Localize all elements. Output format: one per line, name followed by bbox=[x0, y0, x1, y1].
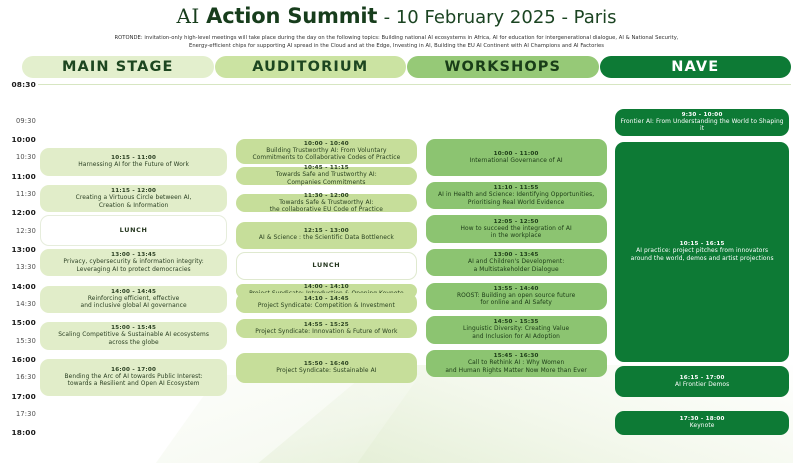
session-card[interactable]: 11:30 - 12:00Towards Safe & Trustworthy … bbox=[236, 194, 417, 212]
title-action-summit: Action Summit bbox=[206, 4, 377, 28]
session-time: 12:15 - 13:00 bbox=[304, 227, 349, 235]
session-time: 14:55 - 15:25 bbox=[304, 321, 349, 329]
session-title-line1: Scaling Competitive & Sustainable AI eco… bbox=[58, 332, 209, 340]
session-title-line1: Call to Rethink AI : Why Women bbox=[468, 360, 564, 368]
session-time: 13:00 - 13:45 bbox=[494, 251, 539, 259]
time-label: 15:00 bbox=[0, 318, 41, 327]
session-time: 14:10 - 14:45 bbox=[304, 295, 349, 303]
session-time: 11:15 - 12:00 bbox=[111, 187, 156, 195]
session-title-line2: the collaborative EU Code of Practice bbox=[270, 207, 383, 215]
session-time: 10:00 - 10:40 bbox=[304, 140, 349, 148]
time-axis: 08:3009:3010:0010:3011:0011:3012:0012:30… bbox=[0, 80, 36, 465]
session-title-line1: AI and Children's Development: bbox=[468, 259, 564, 267]
session-card[interactable]: 16:00 - 17:00Bending the Arc of AI towar… bbox=[40, 359, 227, 396]
session-title-line1: Project Syndicate: Innovation & Future o… bbox=[255, 329, 397, 337]
session-card[interactable]: 9:30 - 10:00Frontier AI: From Understand… bbox=[615, 109, 789, 136]
rotonde-note: ROTONDE: invitation-only high-level meet… bbox=[47, 35, 747, 50]
session-title-line1: AI Frontier Demos bbox=[675, 382, 729, 390]
session-card[interactable]: 13:00 - 13:45Privacy, cybersecurity & in… bbox=[40, 249, 227, 276]
venue-header-workshops[interactable]: WORKSHOPS bbox=[407, 56, 599, 78]
time-label: 16:30 bbox=[0, 373, 41, 381]
session-time: 17:30 - 18:00 bbox=[680, 415, 725, 423]
time-label: 15:30 bbox=[0, 337, 41, 345]
session-card[interactable]: 10:45 - 11:15Towards Safe and Trustworth… bbox=[236, 167, 417, 185]
session-card[interactable]: 16:15 - 17:00AI Frontier Demos bbox=[615, 366, 789, 397]
session-time: 12:05 - 12:50 bbox=[494, 218, 539, 226]
session-time: 16:15 - 17:00 bbox=[680, 374, 725, 382]
session-card[interactable]: 10:00 - 10:40Building Trustworthy AI: Fr… bbox=[236, 139, 417, 163]
session-card[interactable]: LUNCH bbox=[40, 215, 227, 246]
session-title-line1: Project Syndicate: Competition & Investm… bbox=[258, 303, 395, 311]
session-card[interactable]: 14:50 - 15:35Linguistic Diversity: Creat… bbox=[426, 316, 607, 343]
session-title-line2: around the world, demos and artist proje… bbox=[631, 256, 774, 264]
session-title-line2: Leveraging AI to protect democracies bbox=[77, 267, 191, 275]
venue-header-main-stage[interactable]: MAIN STAGE bbox=[22, 56, 214, 78]
time-label: 10:00 bbox=[0, 135, 41, 144]
session-title-line2: Prioritising Real World Evidence bbox=[468, 200, 565, 208]
session-title-line2: towards a Resilient and Open AI Ecosyste… bbox=[68, 381, 200, 389]
column-auditorium: 10:00 - 10:40Building Trustworthy AI: Fr… bbox=[234, 80, 419, 465]
session-card[interactable]: 14:55 - 15:25Project Syndicate: Innovati… bbox=[236, 319, 417, 337]
column-workshops: 10:00 - 11:00International Governance of… bbox=[424, 80, 609, 465]
session-card[interactable]: 15:00 - 15:45Scaling Competitive & Susta… bbox=[40, 322, 227, 349]
time-label: 10:30 bbox=[0, 153, 41, 161]
session-title-line1: Linguistic Diversity: Creating Value bbox=[463, 326, 569, 334]
session-title-line2: Commitments to Collaborative Codes of Pr… bbox=[252, 155, 400, 163]
session-title-line1: Towards Safe & Trustworthy AI: bbox=[279, 200, 373, 208]
title-date-location: - 10 February 2025 - Paris bbox=[384, 7, 617, 28]
session-card[interactable]: 15:50 - 16:40Project Syndicate: Sustaina… bbox=[236, 353, 417, 384]
time-label: 12:00 bbox=[0, 208, 41, 217]
session-title-line1: Building Trustworthy AI: From Voluntary bbox=[266, 148, 386, 156]
session-title-line1: Keynote bbox=[690, 423, 715, 431]
venue-columns: 10:15 - 11:00Harnessing AI for the Futur… bbox=[38, 80, 791, 465]
session-time: 14:00 - 14:10 bbox=[304, 283, 349, 291]
session-time: 13:00 - 13:45 bbox=[111, 251, 156, 259]
session-time: 14:50 - 15:35 bbox=[494, 318, 539, 326]
session-card[interactable]: 11:10 - 11:55AI in Health and Science: I… bbox=[426, 182, 607, 209]
title-ai: AI bbox=[176, 4, 199, 28]
session-title-line2: and inclusive global AI governance bbox=[81, 303, 187, 311]
rotonde-note-line1: ROTONDE: invitation-only high-level meet… bbox=[47, 35, 747, 43]
session-title-line1: Privacy, cybersecurity & information int… bbox=[63, 259, 203, 267]
time-label: 14:00 bbox=[0, 282, 41, 291]
session-title-line1: AI in Health and Science: Identifying Op… bbox=[438, 192, 594, 200]
session-title-line1: Project Syndicate: Sustainable AI bbox=[276, 368, 376, 376]
session-time: 10:00 - 11:00 bbox=[494, 150, 539, 158]
page-header: AI Action Summit - 10 February 2025 - Pa… bbox=[0, 5, 793, 50]
time-label: 09:30 bbox=[0, 117, 41, 125]
session-title-line2: in the workplace bbox=[491, 233, 542, 241]
session-card[interactable]: 10:15 - 11:00Harnessing AI for the Futur… bbox=[40, 148, 227, 175]
rotonde-note-line2: Energy-efficient chips for supporting AI… bbox=[47, 43, 747, 51]
session-title-line1: Reinforcing efficient, effective bbox=[88, 296, 180, 304]
session-title-line1: AI practice: project pitches from innova… bbox=[636, 248, 768, 256]
session-title-line1: AI & Science : the Scientific Data Bottl… bbox=[259, 235, 394, 243]
session-title-line1: LUNCH bbox=[312, 262, 340, 270]
session-time: 15:45 - 16:30 bbox=[494, 352, 539, 360]
session-card[interactable]: 14:10 - 14:45Project Syndicate: Competit… bbox=[236, 293, 417, 313]
session-title-line2: and Inclusion for AI Adoption bbox=[472, 334, 560, 342]
session-time: 9:30 - 10:00 bbox=[682, 111, 723, 119]
session-card[interactable]: 12:15 - 13:00AI & Science : the Scientif… bbox=[236, 222, 417, 249]
time-label: 18:00 bbox=[0, 428, 41, 437]
session-title-line1: Towards Safe and Trustworthy AI: bbox=[276, 172, 377, 180]
session-title-line1: Harnessing AI for the Future of Work bbox=[78, 162, 189, 170]
session-card[interactable]: 15:45 - 16:30Call to Rethink AI : Why Wo… bbox=[426, 350, 607, 377]
session-time: 13:55 - 14:40 bbox=[494, 285, 539, 293]
time-label: 16:00 bbox=[0, 355, 41, 364]
time-label: 17:00 bbox=[0, 392, 41, 401]
session-title-line1: Bending the Arc of AI towards Public Int… bbox=[65, 374, 203, 382]
time-label: 13:30 bbox=[0, 263, 41, 271]
session-title-line1: How to succeed the integration of AI bbox=[460, 226, 571, 234]
session-time: 10:45 - 11:15 bbox=[304, 164, 349, 172]
session-title-line2: and Human Rights Matter Now More than Ev… bbox=[445, 368, 587, 376]
session-card[interactable]: 10:15 - 16:15AI practice: project pitche… bbox=[615, 142, 789, 362]
session-card[interactable]: 13:00 - 13:45AI and Children's Developme… bbox=[426, 249, 607, 276]
session-card[interactable]: 12:05 - 12:50How to succeed the integrat… bbox=[426, 215, 607, 242]
session-time: 14:00 - 14:45 bbox=[111, 288, 156, 296]
session-title-line2: across the globe bbox=[109, 340, 159, 348]
time-label: 08:30 bbox=[0, 80, 41, 89]
column-nave: 9:30 - 10:00Frontier AI: From Understand… bbox=[613, 80, 791, 465]
session-time: 15:50 - 16:40 bbox=[304, 360, 349, 368]
session-title-line1: LUNCH bbox=[120, 227, 148, 235]
session-title-line1: ROOST: Building an open source future bbox=[457, 293, 575, 301]
time-label: 14:30 bbox=[0, 300, 41, 308]
session-card[interactable]: LUNCH bbox=[236, 252, 417, 279]
column-main-stage: 10:15 - 11:00Harnessing AI for the Futur… bbox=[38, 80, 229, 465]
schedule-grid: 08:3009:3010:0010:3011:0011:3012:0012:30… bbox=[0, 80, 793, 465]
session-card[interactable]: 13:55 - 14:40ROOST: Building an open sou… bbox=[426, 283, 607, 310]
time-label: 13:00 bbox=[0, 245, 41, 254]
venue-header-row: MAIN STAGE AUDITORIUM WORKSHOPS NAVE bbox=[22, 56, 791, 78]
session-time: 11:10 - 11:55 bbox=[494, 184, 539, 192]
venue-header-nave[interactable]: NAVE bbox=[600, 56, 792, 78]
session-title-line1: International Governance of AI bbox=[470, 158, 563, 166]
time-label: 11:00 bbox=[0, 172, 41, 181]
time-label: 12:30 bbox=[0, 227, 41, 235]
session-time: 10:15 - 11:00 bbox=[111, 154, 156, 162]
session-title-line2: Companies Commitments bbox=[287, 180, 365, 188]
session-card[interactable]: 17:30 - 18:00Keynote bbox=[615, 411, 789, 435]
page-title: AI Action Summit - 10 February 2025 - Pa… bbox=[0, 5, 793, 29]
session-card[interactable]: 14:00 - 14:45Reinforcing efficient, effe… bbox=[40, 286, 227, 313]
session-time: 15:00 - 15:45 bbox=[111, 324, 156, 332]
session-title-line1: Creating a Virtuous Circle between AI, bbox=[76, 195, 192, 203]
session-time: 16:00 - 17:00 bbox=[111, 366, 156, 374]
session-title-line2: for online and AI Safety bbox=[480, 300, 552, 308]
session-title-line1: Frontier AI: From Understanding the Worl… bbox=[619, 119, 785, 134]
time-label: 17:30 bbox=[0, 410, 41, 418]
session-title-line2: a Multistakeholder Dialogue bbox=[474, 267, 559, 275]
session-card[interactable]: 10:00 - 11:00International Governance of… bbox=[426, 139, 607, 176]
time-label: 11:30 bbox=[0, 190, 41, 198]
session-time: 11:30 - 12:00 bbox=[304, 192, 349, 200]
session-title-line2: Creation & Information bbox=[99, 203, 169, 211]
venue-header-auditorium[interactable]: AUDITORIUM bbox=[215, 56, 407, 78]
session-time: 10:15 - 16:15 bbox=[680, 240, 725, 248]
session-card[interactable]: 11:15 - 12:00Creating a Virtuous Circle … bbox=[40, 185, 227, 212]
